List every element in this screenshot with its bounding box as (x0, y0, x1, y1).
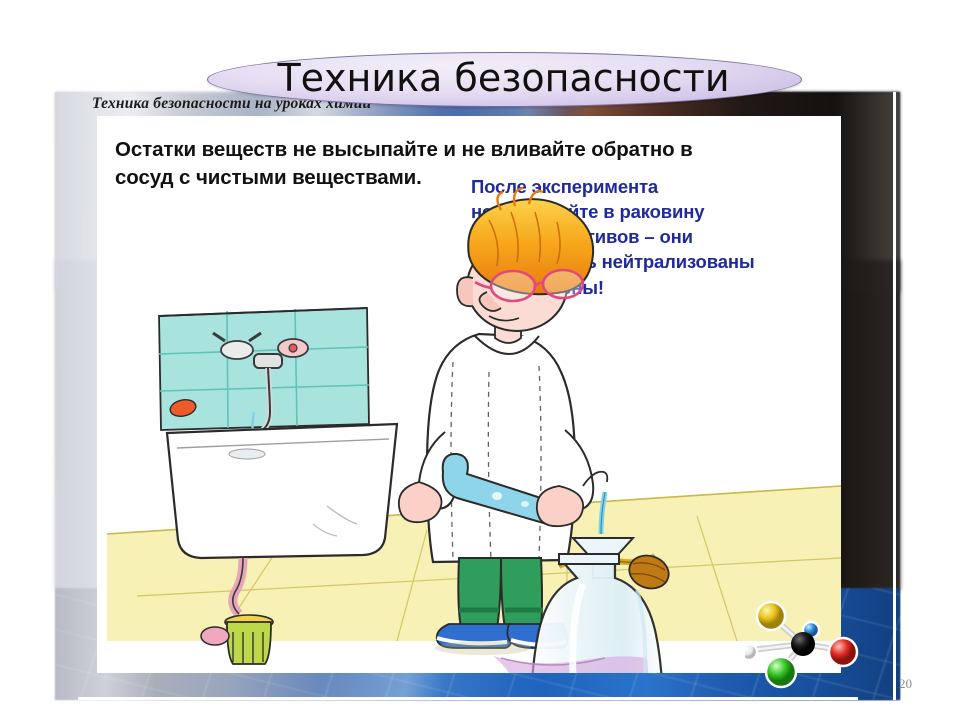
vertical-divider (893, 92, 896, 700)
content-card: Остатки веществ не высыпайте и не вливай… (97, 116, 841, 673)
chemistry-safety-cartoon (97, 186, 841, 673)
molecule-icon (745, 592, 870, 697)
slide-canvas: Техника безопасности Техника безопасност… (0, 0, 960, 720)
page-title: Техника безопасности (207, 50, 800, 107)
page-number: 20 (899, 676, 912, 692)
black-rule-line-1: Остатки веществ не высыпайте и не вливай… (115, 138, 693, 161)
horizontal-divider (78, 697, 858, 700)
